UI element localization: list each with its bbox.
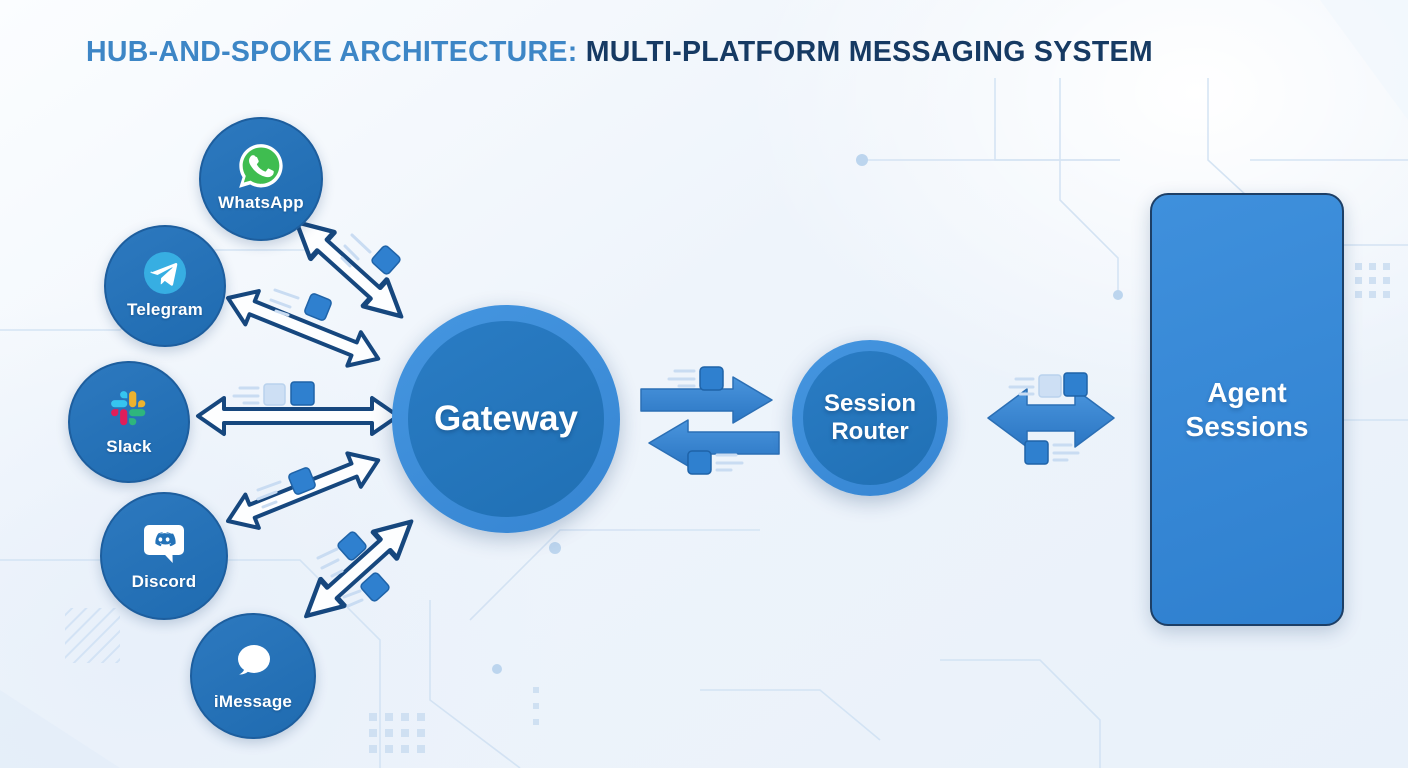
panel-label-line1: Agent — [1186, 376, 1309, 409]
title-part-2: MULTI-PLATFORM MESSAGING SYSTEM — [586, 36, 1153, 68]
node-label: Telegram — [127, 300, 203, 320]
speed-lines — [1010, 379, 1033, 394]
connector-whatsapp-gateway — [284, 209, 413, 330]
panel-label-line2: Sessions — [1186, 410, 1309, 443]
node-telegram[interactable]: Telegram — [104, 225, 226, 347]
node-label: Gateway — [434, 399, 578, 439]
node-gateway[interactable]: Gateway — [392, 305, 620, 533]
packet-icon — [1039, 375, 1061, 397]
arrow-router-to-gateway — [649, 420, 779, 466]
connector-router-panel — [988, 373, 1114, 464]
imessage-icon — [227, 637, 279, 689]
node-label: WhatsApp — [218, 193, 304, 213]
node-whatsapp[interactable]: WhatsApp — [199, 117, 323, 241]
discord-icon — [138, 517, 190, 569]
telegram-icon — [141, 249, 189, 297]
panel-label: Agent Sessions — [1186, 376, 1309, 442]
packet-icon — [264, 384, 285, 405]
node-session-router[interactable]: Session Router — [792, 340, 948, 496]
packet-icon — [700, 367, 723, 390]
connector-telegram-gateway — [221, 281, 385, 375]
page-title: HUB-AND-SPOKE ARCHITECTURE: MULTI-PLATFO… — [86, 36, 1153, 69]
node-slack[interactable]: Slack — [68, 361, 190, 483]
diagram-canvas: HUB-AND-SPOKE ARCHITECTURE: MULTI-PLATFO… — [0, 0, 1408, 768]
speed-lines — [669, 371, 694, 386]
packet-icon — [1025, 441, 1048, 464]
node-imessage[interactable]: iMessage — [190, 613, 316, 739]
packet-icon — [304, 293, 333, 322]
node-label: Discord — [132, 572, 197, 592]
node-label-line1: Session — [824, 390, 916, 418]
slack-icon — [105, 385, 153, 433]
node-agent-sessions[interactable]: Agent Sessions — [1150, 193, 1344, 626]
packet-icon — [291, 382, 314, 405]
node-label: iMessage — [214, 692, 292, 712]
node-label: Slack — [106, 437, 151, 457]
title-part-1: HUB-AND-SPOKE ARCHITECTURE: — [86, 36, 578, 68]
speed-lines — [717, 455, 742, 470]
connector-discord-gateway — [221, 444, 385, 538]
connector-slack-gateway — [198, 382, 398, 434]
packet-icon — [688, 451, 711, 474]
node-discord[interactable]: Discord — [100, 492, 228, 620]
connector-imessage-gateway — [294, 508, 423, 629]
gateway-inner: Gateway — [408, 321, 604, 517]
session-router-inner: Session Router — [803, 351, 937, 485]
connector-gateway-router — [641, 367, 779, 474]
speed-lines — [234, 388, 258, 403]
speed-lines — [342, 235, 370, 266]
packet-icon — [370, 244, 401, 275]
packet-icon — [1064, 373, 1087, 396]
packet-icon — [359, 571, 390, 602]
node-label-line2: Router — [831, 418, 908, 446]
whatsapp-icon — [236, 141, 286, 191]
